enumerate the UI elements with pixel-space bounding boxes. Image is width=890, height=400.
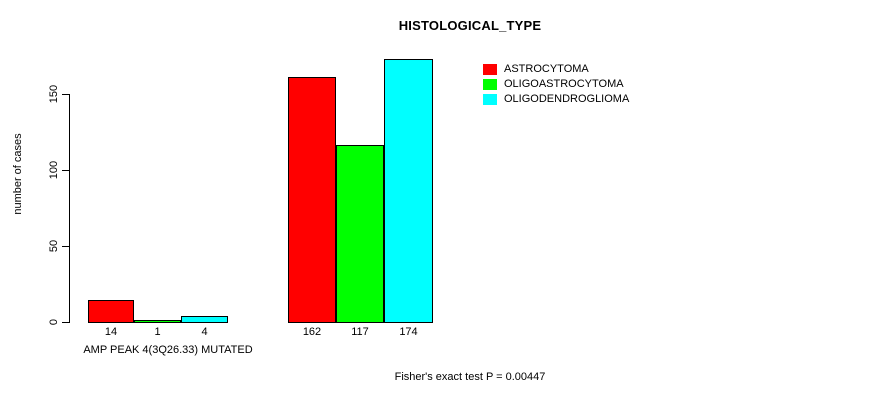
legend-swatch-oligoastrocytoma [483, 79, 497, 90]
bar-label-group1-oligoastrocytoma: 1 [134, 326, 181, 338]
legend-label-oligoastrocytoma: OLIGOASTROCYTOMA [504, 79, 624, 90]
bar-group1-oligodendroglioma[interactable] [181, 316, 228, 323]
legend-label-oligodendroglioma: OLIGODENDROGLIOMA [504, 94, 629, 105]
bar-group1-oligoastrocytoma[interactable] [134, 320, 181, 323]
bar-group2-oligoastrocytoma[interactable] [336, 145, 384, 323]
x-axis-group-label: AMP PEAK 4(3Q26.33) MUTATED [58, 344, 278, 356]
bar-label-group2-oligodendroglioma: 174 [384, 326, 433, 338]
legend-swatch-astrocytoma [483, 64, 497, 75]
bar-group1-astrocytoma[interactable] [88, 300, 134, 323]
legend-item-astrocytoma[interactable]: ASTROCYTOMA [483, 62, 629, 77]
chart-canvas: HISTOLOGICAL_TYPE number of cases 0 50 1… [0, 0, 890, 400]
bar-group2-astrocytoma[interactable] [288, 77, 336, 323]
bars-layer: 14 1 4 162 117 174 [0, 0, 890, 400]
bar-label-group1-astrocytoma: 14 [88, 326, 134, 338]
bar-label-group2-astrocytoma: 162 [288, 326, 336, 338]
legend-swatch-oligodendroglioma [483, 94, 497, 105]
bar-label-group2-oligoastrocytoma: 117 [336, 326, 384, 338]
bar-label-group1-oligodendroglioma: 4 [181, 326, 228, 338]
legend-label-astrocytoma: ASTROCYTOMA [504, 64, 589, 75]
legend: ASTROCYTOMA OLIGOASTROCYTOMA OLIGODENDRO… [483, 62, 629, 107]
statistical-test-annotation: Fisher's exact test P = 0.00447 [265, 371, 675, 383]
bar-group2-oligodendroglioma[interactable] [384, 59, 433, 323]
legend-item-oligodendroglioma[interactable]: OLIGODENDROGLIOMA [483, 92, 629, 107]
legend-item-oligoastrocytoma[interactable]: OLIGOASTROCYTOMA [483, 77, 629, 92]
